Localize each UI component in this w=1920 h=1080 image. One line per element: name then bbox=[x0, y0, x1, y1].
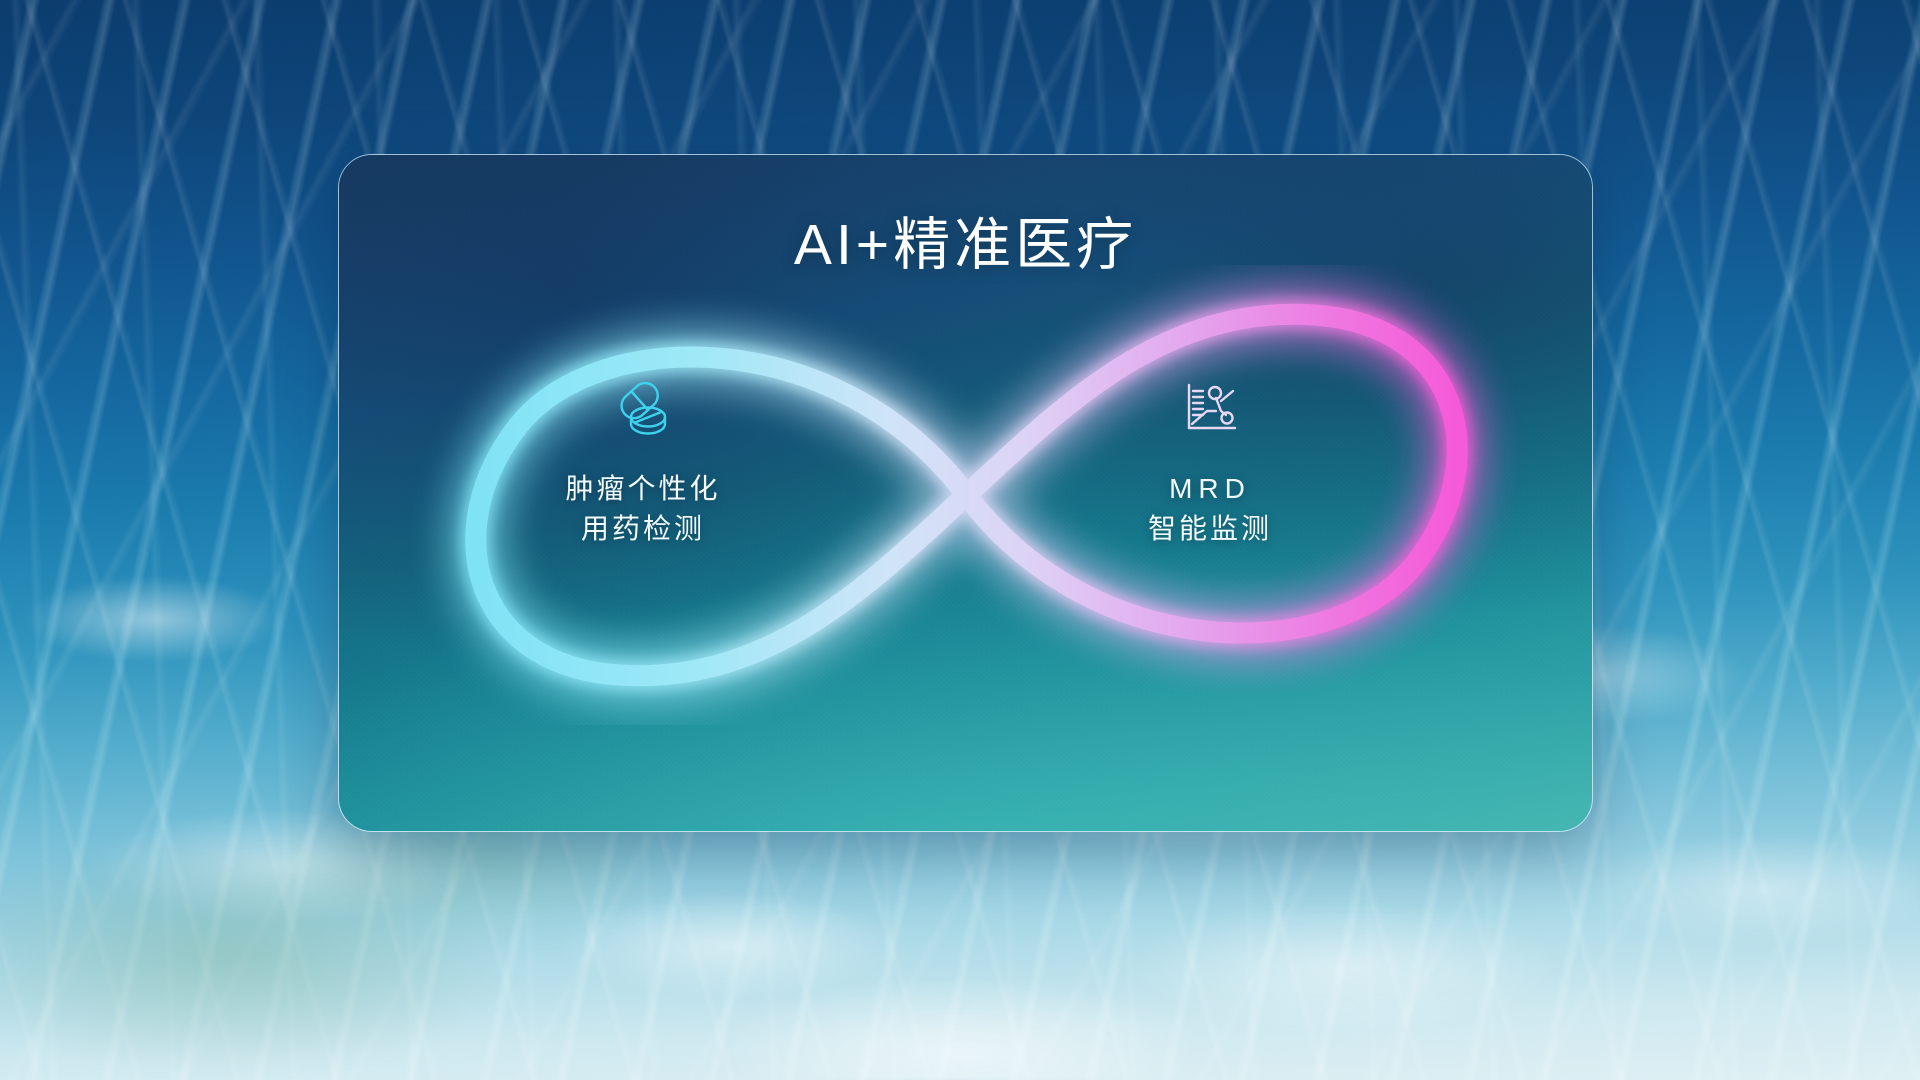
node-label-line-1: 肿瘤个性化 bbox=[493, 469, 793, 509]
line-chart-monitor-icon bbox=[1060, 377, 1360, 439]
node-mrd-intelligent-monitoring: MRD 智能监测 bbox=[1060, 377, 1360, 549]
node-tumor-personalized-medication: 肿瘤个性化 用药检测 bbox=[493, 377, 793, 549]
ai-precision-medicine-card: AI+精准医疗 bbox=[338, 154, 1593, 832]
screenshot-stage: AI+精准医疗 bbox=[0, 0, 1920, 1080]
page-title: AI+精准医疗 bbox=[339, 214, 1592, 277]
node-label-line-1: MRD bbox=[1060, 469, 1360, 509]
pills-icon bbox=[493, 377, 793, 439]
node-label-line-2: 用药检测 bbox=[493, 509, 793, 549]
node-label-line-2: 智能监测 bbox=[1060, 509, 1360, 549]
